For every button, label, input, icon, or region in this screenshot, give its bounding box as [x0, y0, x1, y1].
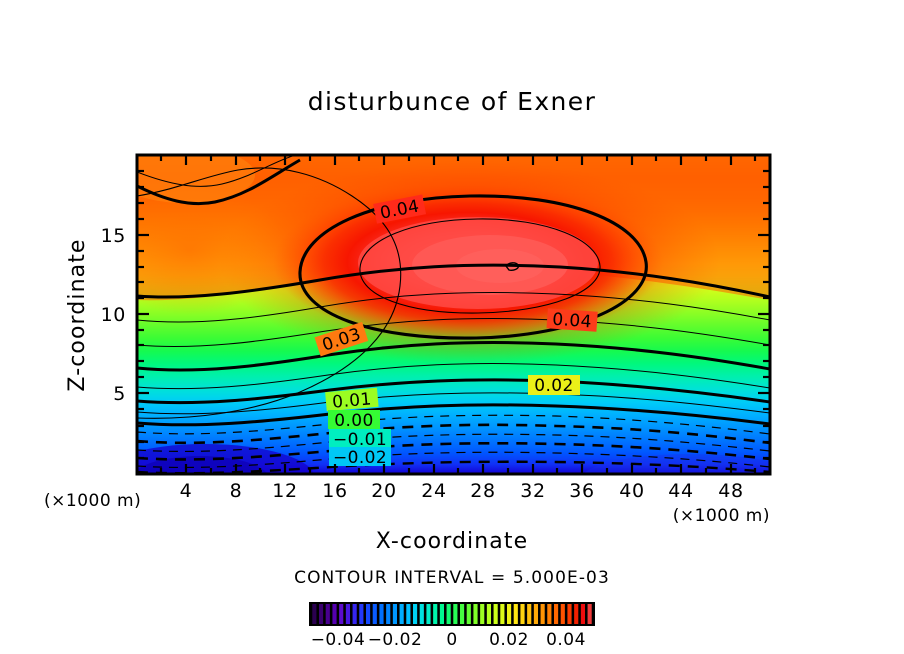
colorbar-band [366, 604, 370, 624]
figure-root: disturbunce of Exner [0, 0, 904, 654]
colorbar-band [581, 604, 585, 624]
colorbar-band [574, 604, 578, 624]
colorbar-band [480, 604, 484, 624]
x-axis-unit-note: (×1000 m) [673, 506, 770, 526]
colorbar-band [346, 604, 350, 624]
colorbar-band [507, 604, 511, 624]
contour-label: −0.02 [333, 448, 387, 468]
colorbar-band [554, 604, 558, 624]
colorbar-band [393, 604, 397, 624]
colorbar: CONTOUR INTERVAL = 5.000E-03 −0.04 −0.02… [294, 568, 610, 650]
x-tick-label: 12 [272, 480, 297, 502]
x-tick-label: 48 [718, 480, 743, 502]
colorbar-band [400, 604, 404, 624]
colorbar-band [406, 604, 410, 624]
colorbar-band [386, 604, 390, 624]
contour-label: 0.00 [334, 411, 373, 431]
colorbar-band [520, 604, 524, 624]
colorbar-band [319, 604, 323, 624]
colorbar-band [467, 604, 471, 624]
colorbar-band [500, 604, 504, 624]
colorbar-band [561, 604, 565, 624]
colorbar-tick-labels: −0.04 −0.02 0 0.02 0.04 [311, 630, 586, 650]
x-tick-label: 28 [470, 480, 495, 502]
x-tick-label: 44 [668, 480, 693, 502]
colorbar-tick-label: −0.04 [311, 630, 366, 650]
colorbar-band [413, 604, 417, 624]
colorbar-band [460, 604, 464, 624]
colorbar-band [588, 604, 592, 624]
colorbar-band [487, 604, 491, 624]
colorbar-band [494, 604, 498, 624]
colorbar-band [567, 604, 571, 624]
colorbar-band [420, 604, 424, 624]
colorbar-band [373, 604, 377, 624]
colorbar-tick-label: 0.04 [546, 630, 586, 650]
colorbar-band [326, 604, 330, 624]
colorbar-band [379, 604, 383, 624]
x-tick-label: 24 [421, 480, 446, 502]
colorbar-band [514, 604, 518, 624]
x-tick-label: 20 [371, 480, 396, 502]
contour-figure: disturbunce of Exner [0, 0, 904, 654]
colorbar-band [339, 604, 343, 624]
x-tick-labels: 4 8 12 16 20 24 28 32 36 40 44 48 [180, 480, 744, 502]
colorbar-tick-label: 0 [446, 630, 457, 650]
colorbar-band [332, 604, 336, 624]
colorbar-band [547, 604, 551, 624]
x-tick-label: 40 [619, 480, 644, 502]
y-axis-label: Z-coordinate [65, 238, 90, 391]
colorbar-band [527, 604, 531, 624]
y-tick-label: 10 [101, 304, 126, 326]
contour-label: 0.02 [534, 376, 573, 396]
y-axis-unit-note: (×1000 m) [44, 491, 141, 511]
colorbar-band [426, 604, 430, 624]
colorbar-band [359, 604, 363, 624]
colorbar-band [433, 604, 437, 624]
x-axis-label: X-coordinate [376, 529, 528, 554]
colorbar-band [541, 604, 545, 624]
y-tick-label: 15 [101, 225, 126, 247]
plot-area: 0.04 0.04 0.03 0.02 0.01 [44, 147, 800, 554]
colorbar-band [534, 604, 538, 624]
colorbar-caption: CONTOUR INTERVAL = 5.000E-03 [294, 568, 610, 588]
x-tick-label: 32 [520, 480, 545, 502]
contour-label: 0.01 [331, 389, 372, 412]
x-tick-label: 36 [569, 480, 594, 502]
colorbar-tick-label: −0.02 [368, 630, 423, 650]
colorbar-band [312, 604, 316, 624]
x-tick-label: 8 [230, 480, 243, 502]
colorbar-band [440, 604, 444, 624]
colorbar-band [353, 604, 357, 624]
x-tick-label: 16 [322, 480, 347, 502]
x-tick-label: 4 [180, 480, 193, 502]
colorbar-band [453, 604, 457, 624]
page-title: disturbunce of Exner [308, 87, 597, 116]
colorbar-tick-label: 0.02 [489, 630, 529, 650]
colorbar-band [447, 604, 451, 624]
colorbar-band [473, 604, 477, 624]
y-tick-labels: 5 10 15 [101, 225, 126, 405]
y-tick-label: 5 [113, 383, 126, 405]
contour-label: 0.04 [552, 310, 593, 333]
